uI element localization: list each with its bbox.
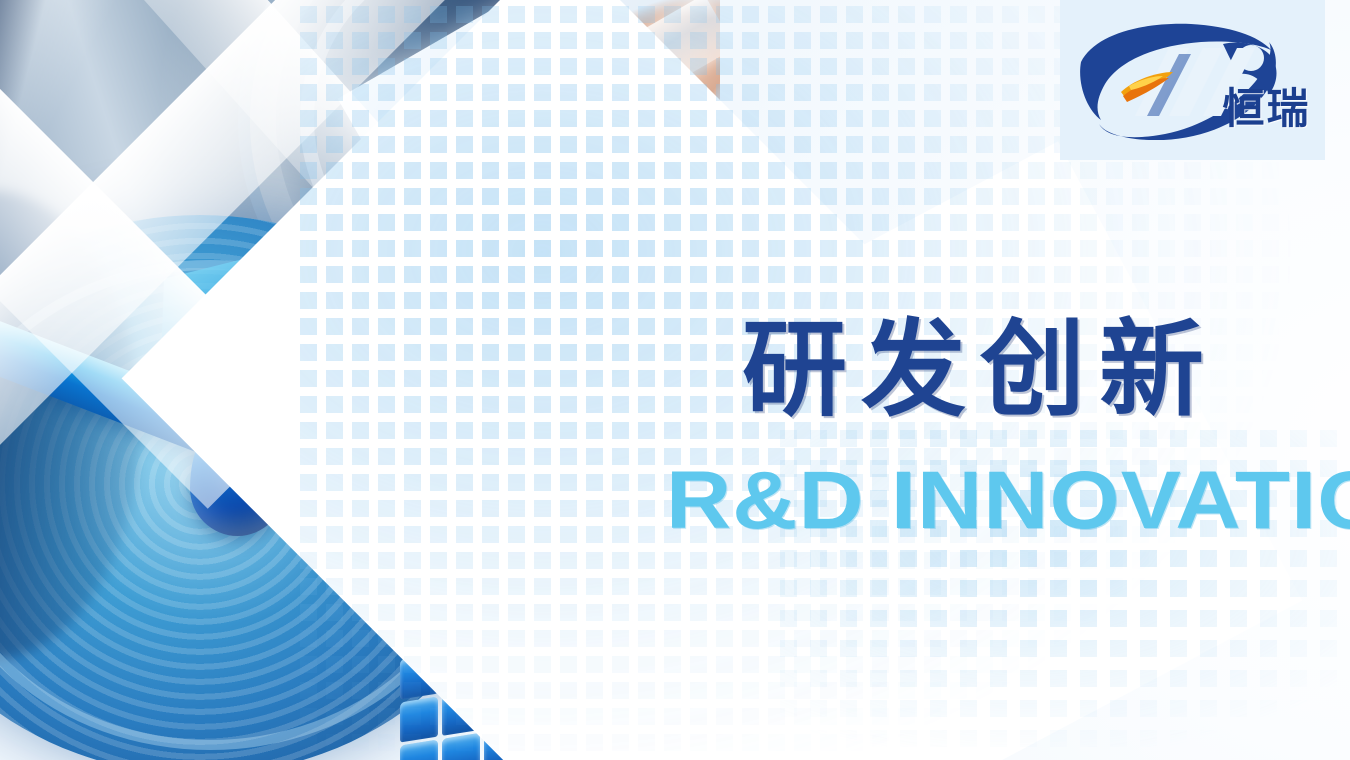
hengrui-logo: 恒瑞: [1060, 0, 1325, 160]
rd-innovation-banner: 研发创新 R&D INNOVATION 恒瑞: [0, 0, 1350, 760]
logo-inner: 恒瑞: [1073, 20, 1313, 140]
logo-brand-text: 恒瑞: [1222, 88, 1310, 130]
page-title-en: R&D INNOVATION: [666, 460, 1350, 542]
page-title-cn: 研发创新: [742, 318, 1218, 423]
